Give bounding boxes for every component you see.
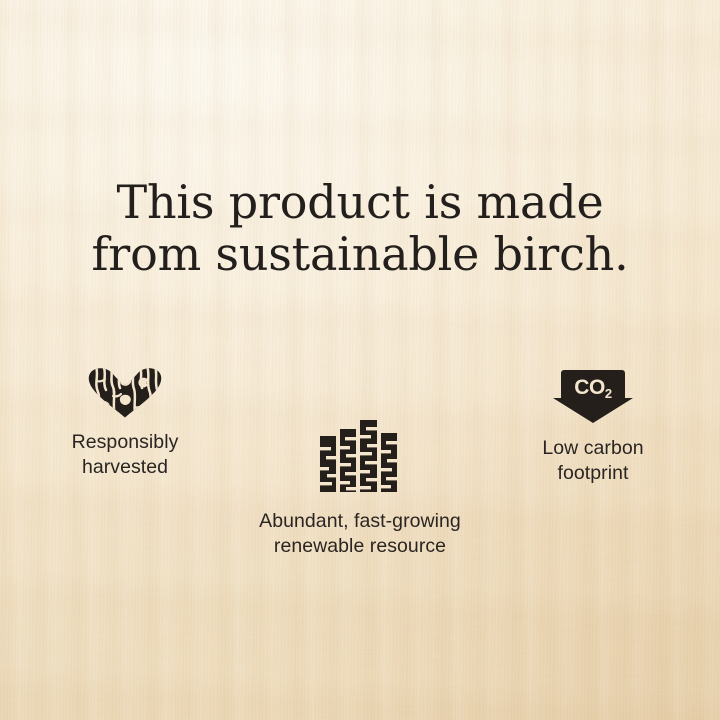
feature-caption: Abundant, fast-growing renewable resourc… — [240, 509, 480, 560]
feature-icon-slot: CO2 — [503, 366, 683, 424]
co2-down-arrow-icon: CO2 — [552, 368, 634, 424]
feature-renewable-resource: Abundant, fast-growing renewable resourc… — [240, 414, 480, 560]
feature-list: Responsibly harvested — [0, 352, 720, 582]
page-title: This product is made from sustainable bi… — [0, 176, 720, 281]
feature-caption: Low carbon footprint — [503, 436, 683, 487]
birch-trunks-icon — [317, 416, 403, 492]
feature-caption: Responsibly harvested — [35, 430, 215, 481]
birch-panel-canvas: This product is made from sustainable bi… — [0, 0, 720, 720]
co2-icon-subscript: 2 — [605, 386, 612, 401]
feature-low-carbon-footprint: CO2 Low carbon footprint — [503, 366, 683, 487]
feature-icon-slot — [35, 366, 215, 418]
wood-grain-heart-icon — [87, 368, 163, 418]
feature-responsibly-harvested: Responsibly harvested — [35, 366, 215, 481]
feature-icon-slot — [240, 414, 480, 492]
